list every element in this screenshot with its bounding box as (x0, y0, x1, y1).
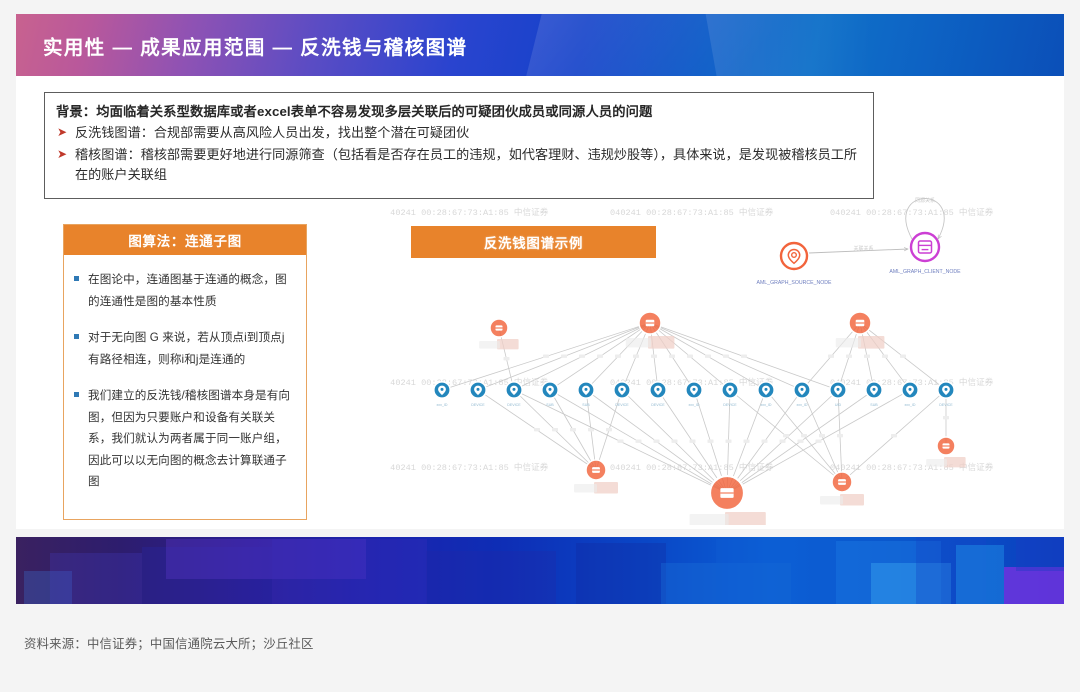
graph-edge-label-chip (597, 355, 603, 358)
band-rectangle (716, 539, 836, 604)
list-item-label: 我们建立的反洗钱/稽核图谱本身是有向图，但因为只要账户和设备有关联关系，我们就认… (88, 385, 294, 493)
watermark-code: 040241 00:28:67:73:A1:85 中信证券 (830, 206, 994, 218)
node-label: DEVICE (651, 403, 665, 407)
node-label: SUB (546, 403, 554, 407)
location-pin-dot (549, 388, 552, 391)
graph-edge-label-chip (705, 355, 711, 358)
note-heading: 背景：均面临着关系型数据库或者excel表单不容易发现多层关联后的可疑团伙成员或… (56, 101, 868, 120)
graph-node-device[interactable]: DEVICE (938, 382, 954, 407)
redacted-node-label (574, 484, 597, 493)
graph-edge-label-chip (741, 355, 747, 358)
graph-edge-label-chip (579, 355, 585, 358)
square-bullet-icon (74, 392, 88, 493)
node-label: DEVICE (507, 403, 521, 407)
graph-node-source[interactable] (710, 476, 744, 510)
graph-node-source[interactable] (639, 312, 661, 334)
source-footnote: 资料来源：中信证券；中国信通院云大所；沙丘社区 (24, 634, 314, 652)
location-pin-dot (693, 388, 696, 391)
graph-node-source[interactable] (832, 472, 852, 492)
arrow-bullet-icon: ➤ (57, 145, 75, 184)
graph-edge-label-chip (669, 355, 675, 358)
graph-edge-label-chip (762, 440, 768, 443)
node-label: UID (835, 403, 842, 407)
graph-node-device[interactable]: DEVICE (614, 382, 630, 407)
location-pin-dot (621, 388, 624, 391)
node-label: DEVICE (723, 403, 737, 407)
graph-edge-label-chip (606, 428, 612, 431)
decorative-bottom-band (16, 537, 1064, 604)
location-pin-dot (873, 388, 876, 391)
band-rectangle (426, 551, 556, 604)
graph-node-device[interactable]: xxx_ID (758, 382, 774, 407)
list-item: 在图论中，连通图基于连通的概念，图的连通性是图的基本性质 (74, 269, 294, 312)
graph-edge-label-chip (891, 434, 897, 437)
graph-node-source[interactable] (937, 437, 955, 455)
graph-node-device[interactable]: DEVICE (470, 382, 486, 407)
graph-edge-label-chip (654, 440, 660, 443)
legend-source-node-ring[interactable] (781, 243, 807, 269)
node-label: xxx_ID (761, 403, 772, 407)
graph-svg-canvas: 040241 00:28:67:73:A1:85 中信证券040241 00:2… (390, 170, 1050, 525)
location-pin-dot (801, 388, 804, 391)
graph-edge-label-chip (615, 355, 621, 358)
aml-graph-visualization[interactable]: 040241 00:28:67:73:A1:85 中信证券040241 00:2… (390, 170, 1050, 525)
graph-node-device[interactable]: DEVICE (650, 382, 666, 407)
graph-edge-label-chip (543, 355, 549, 358)
location-pin-dot (837, 388, 840, 391)
graph-edge-label-chip (561, 355, 567, 358)
legend-edge-label: 关联关系 (853, 245, 873, 252)
graph-edge-label-chip (690, 440, 696, 443)
node-label: xxx_ID (689, 403, 700, 407)
watermark-code: 040241 00:28:67:73:A1:85 中信证券 (610, 206, 774, 218)
graph-edge-label-chip (819, 434, 825, 437)
location-pin-dot (945, 388, 948, 391)
watermark-code: 040241 00:28:67:73:A1:85 中信证券 (390, 206, 549, 218)
node-label: SUB (870, 403, 878, 407)
watermark-code: 040241 00:28:67:73:A1:85 中信证券 (390, 461, 549, 473)
graph-node-device[interactable]: xxx_ID (434, 382, 450, 407)
location-pin-dot (792, 253, 797, 258)
graph-edge-label-chip (726, 440, 732, 443)
graph-node-device[interactable]: SUB (542, 382, 558, 407)
graph-node-device[interactable]: DEVICE (506, 382, 522, 407)
card-icon (919, 241, 932, 253)
location-pin-dot (765, 388, 768, 391)
list-item: 对于无向图 G 来说，若从顶点i到顶点j有路径相连，则称i和j是连通的 (74, 327, 294, 370)
graph-node-source[interactable] (586, 460, 606, 480)
note-bullet-text: 反洗钱图谱：合规部需要从高风险人员出发，找出整个潜在可疑团伙 (75, 123, 469, 143)
graph-edge-label-chip (570, 428, 576, 431)
location-pin-dot (729, 388, 732, 391)
legend-source-node-label: AML_GRAPH_SOURCE_NODE (757, 280, 832, 286)
graph-node-source[interactable] (849, 312, 871, 334)
graph-edge-label-chip (846, 355, 852, 358)
graph-edge-label-chip (900, 355, 906, 358)
watermark-code: 040241 00:28:67:73:A1:85 中信证券 (390, 376, 549, 388)
redacted-node-label (479, 341, 500, 349)
location-pin-dot (657, 388, 660, 391)
redacted-node-label (497, 339, 519, 349)
panel-title: 图算法：连通子图 (128, 230, 242, 250)
redacted-node-label (944, 457, 966, 467)
graph-edge-label-chip (828, 355, 834, 358)
redacted-node-label (836, 338, 861, 347)
redacted-node-label (820, 496, 843, 505)
graph-edge-label-chip (882, 355, 888, 358)
list-item-label: 对于无向图 G 来说，若从顶点i到顶点j有路径相连，则称i和j是连通的 (88, 327, 294, 370)
location-pin-dot (909, 388, 912, 391)
slide-header-bar: 实用性 — 成果应用范围 — 反洗钱与稽核图谱 (16, 14, 1064, 76)
location-pin-dot (513, 388, 516, 391)
redacted-node-label (690, 514, 729, 525)
redacted-node-label (858, 336, 884, 349)
node-label: DEVICE (939, 403, 953, 407)
graph-edge-label-chip (672, 440, 678, 443)
legend-self-loop-label: 同源关系 (915, 197, 935, 204)
panel-header: 图算法：连通子图 (64, 225, 306, 255)
graph-edge-label-chip (864, 355, 870, 358)
graph-edge-label-chip (780, 440, 786, 443)
panel-body: 在图论中，连通图基于连通的概念，图的连通性是图的基本性质 对于无向图 G 来说，… (64, 255, 306, 493)
graph-edge-label-chip (783, 434, 789, 437)
graph-edge-label-chip (943, 416, 949, 419)
node-label: DEVICE (471, 403, 485, 407)
band-rectangle (1016, 537, 1064, 571)
redacted-node-label (725, 512, 766, 525)
redacted-node-label (840, 494, 864, 506)
graph-node-device[interactable]: xxx_ID (686, 382, 702, 407)
graph-edge-label-chip (708, 440, 714, 443)
redacted-node-label (594, 482, 618, 494)
graph-watermark-layer: 040241 00:28:67:73:A1:85 中信证券040241 00:2… (390, 206, 994, 473)
graph-edge-label-chip (798, 440, 804, 443)
graph-algorithm-panel: 图算法：连通子图 在图论中，连通图基于连通的概念，图的连通性是图的基本性质 对于… (63, 224, 307, 520)
header-sheen-decoration-2 (705, 14, 926, 76)
graph-edge-label-chip (504, 357, 510, 360)
legend-client-node-label: AML_GRAPH_CLIENT_NODE (889, 269, 961, 275)
graph-edge-label-chip (633, 355, 639, 358)
graph-edge-label-chip (534, 428, 540, 431)
list-item: 我们建立的反洗钱/稽核图谱本身是有向图，但因为只要账户和设备有关联关系，我们就认… (74, 385, 294, 493)
list-item-label: 在图论中，连通图基于连通的概念，图的连通性是图的基本性质 (88, 269, 294, 312)
location-pin-icon (788, 250, 799, 264)
graph-edge-label-chip (723, 355, 729, 358)
band-rectangle (1004, 567, 1064, 604)
note-bullet-row: ➤ 反洗钱图谱：合规部需要从高风险人员出发，找出整个潜在可疑团伙 (57, 123, 863, 143)
location-pin-dot (585, 388, 588, 391)
graph-node-source[interactable] (490, 319, 508, 337)
legend-client-node-ring[interactable] (911, 233, 939, 261)
node-label: xxx_ID (905, 403, 916, 407)
graph-edge-label-chip (552, 428, 558, 431)
redacted-node-label (648, 336, 674, 349)
graph-node-device[interactable]: SUB (866, 382, 882, 407)
slide-canvas: 实用性 — 成果应用范围 — 反洗钱与稽核图谱 背景：均面临着关系型数据库或者e… (0, 0, 1080, 692)
band-rectangle (576, 543, 666, 604)
band-rectangle (272, 539, 427, 604)
node-label: xxx_ID (437, 403, 448, 407)
node-label: DEVICE (615, 403, 629, 407)
band-rectangle (50, 553, 142, 604)
square-bullet-icon (74, 276, 88, 312)
location-pin-dot (477, 388, 480, 391)
arrow-bullet-icon: ➤ (57, 123, 75, 143)
graph-node-device[interactable]: SUB (578, 382, 594, 407)
graph-edge-label-chip (618, 440, 624, 443)
redacted-node-label (926, 459, 947, 467)
graph-edge-label-chip (837, 434, 843, 437)
graph-edge-label-chip (651, 355, 657, 358)
location-pin-dot (441, 388, 444, 391)
graph-node-device[interactable]: xxx_ID (902, 382, 918, 407)
graph-edge-label-chip (636, 440, 642, 443)
page-title: 实用性 — 成果应用范围 — 反洗钱与稽核图谱 (43, 14, 467, 76)
graph-edge-label-chip (801, 434, 807, 437)
band-rectangle (956, 545, 1004, 604)
graph-node-device[interactable]: UID (830, 382, 846, 407)
graph-edge-label-chip (687, 355, 693, 358)
node-label: xxx_ID (797, 403, 808, 407)
redacted-node-label (626, 338, 651, 347)
square-bullet-icon (74, 334, 88, 370)
graph-edge-label-chip (744, 440, 750, 443)
graph-node-device[interactable]: DEVICE (722, 382, 738, 407)
graph-edge-label-chip (816, 440, 822, 443)
node-label: SUB (582, 403, 590, 407)
